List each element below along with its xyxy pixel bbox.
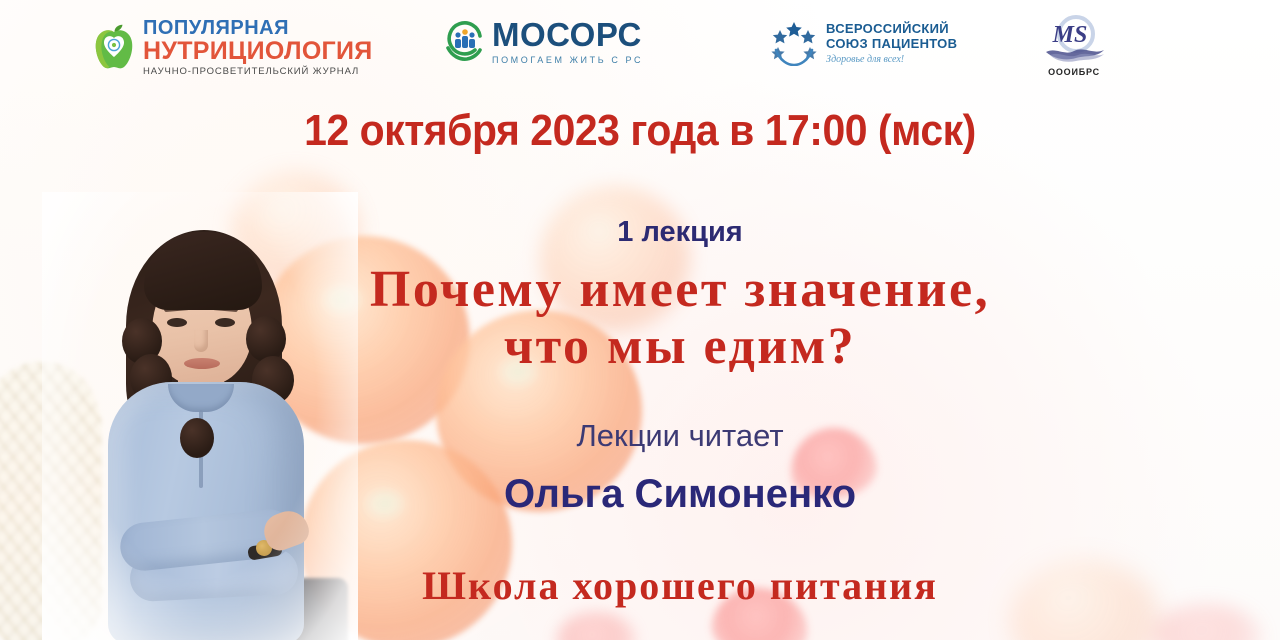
logo-vsp-line3: Здоровье для всех! bbox=[826, 54, 957, 65]
presenter-photo bbox=[60, 206, 340, 640]
hand-with-people-icon bbox=[444, 20, 486, 64]
logo-nutriciology-line3: НАУЧНО-ПРОСВЕТИТЕЛЬСКИЙ ЖУРНАЛ bbox=[143, 67, 373, 77]
sponsor-logo-bar: ПОПУЛЯРНАЯ НУТРИЦИОЛОГИЯ НАУЧНО-ПРОСВЕТИ… bbox=[0, 0, 1280, 86]
hair-curl bbox=[246, 316, 286, 362]
lecture-title-line1: Почему имеет значение, bbox=[320, 262, 1040, 319]
stars-circle-icon bbox=[770, 20, 818, 66]
lecturer-intro-label: Лекции читает bbox=[330, 418, 1030, 454]
lecturer-name: Ольга Симоненко bbox=[330, 472, 1030, 517]
logo-mosors-tagline: ПОМОГАЕМ ЖИТЬ С РС bbox=[492, 55, 643, 65]
logo-mosors[interactable]: МОСОРС ПОМОГАЕМ ЖИТЬ С РС bbox=[444, 18, 643, 65]
eye-right bbox=[215, 318, 235, 327]
lecture-title-line2: что мы едим? bbox=[320, 319, 1040, 376]
webinar-poster: ПОПУЛЯРНАЯ НУТРИЦИОЛОГИЯ НАУЧНО-ПРОСВЕТИ… bbox=[0, 0, 1280, 640]
green-apple-icon bbox=[92, 24, 136, 70]
school-name: Школа хорошего питания bbox=[300, 562, 1060, 609]
logo-vsp-line2: СОЮЗ ПАЦИЕНТОВ bbox=[826, 36, 957, 51]
logo-vsp-line1: ВСЕРОССИЙСКИЙ bbox=[826, 21, 957, 36]
hair-curl bbox=[180, 418, 214, 458]
lecture-title: Почему имеет значение, что мы едим? bbox=[320, 262, 1040, 375]
lips bbox=[184, 358, 220, 369]
logo-nutriciology-line1: ПОПУЛЯРНАЯ bbox=[143, 18, 373, 38]
logo-nutriciology[interactable]: ПОПУЛЯРНАЯ НУТРИЦИОЛОГИЯ НАУЧНО-ПРОСВЕТИ… bbox=[92, 18, 373, 77]
eye-left bbox=[167, 318, 187, 327]
logo-ms[interactable]: MS ОООИБРС bbox=[1038, 14, 1110, 77]
lecture-number: 1 лекция bbox=[330, 216, 1030, 249]
nose bbox=[194, 330, 208, 352]
logo-ms-abbr: ОООИБРС bbox=[1048, 67, 1100, 77]
logo-mosors-word: МОСОРС bbox=[492, 18, 643, 51]
event-date-time: 12 октября 2023 года в 17:00 (мск) bbox=[45, 106, 1235, 156]
logo-vsp[interactable]: ВСЕРОССИЙСКИЙ СОЮЗ ПАЦИЕНТОВ Здоровье дл… bbox=[770, 20, 957, 66]
ms-monogram-icon: MS bbox=[1038, 14, 1110, 64]
svg-text:MS: MS bbox=[1052, 22, 1088, 48]
logo-nutriciology-line2: НУТРИЦИОЛОГИЯ bbox=[143, 39, 373, 64]
